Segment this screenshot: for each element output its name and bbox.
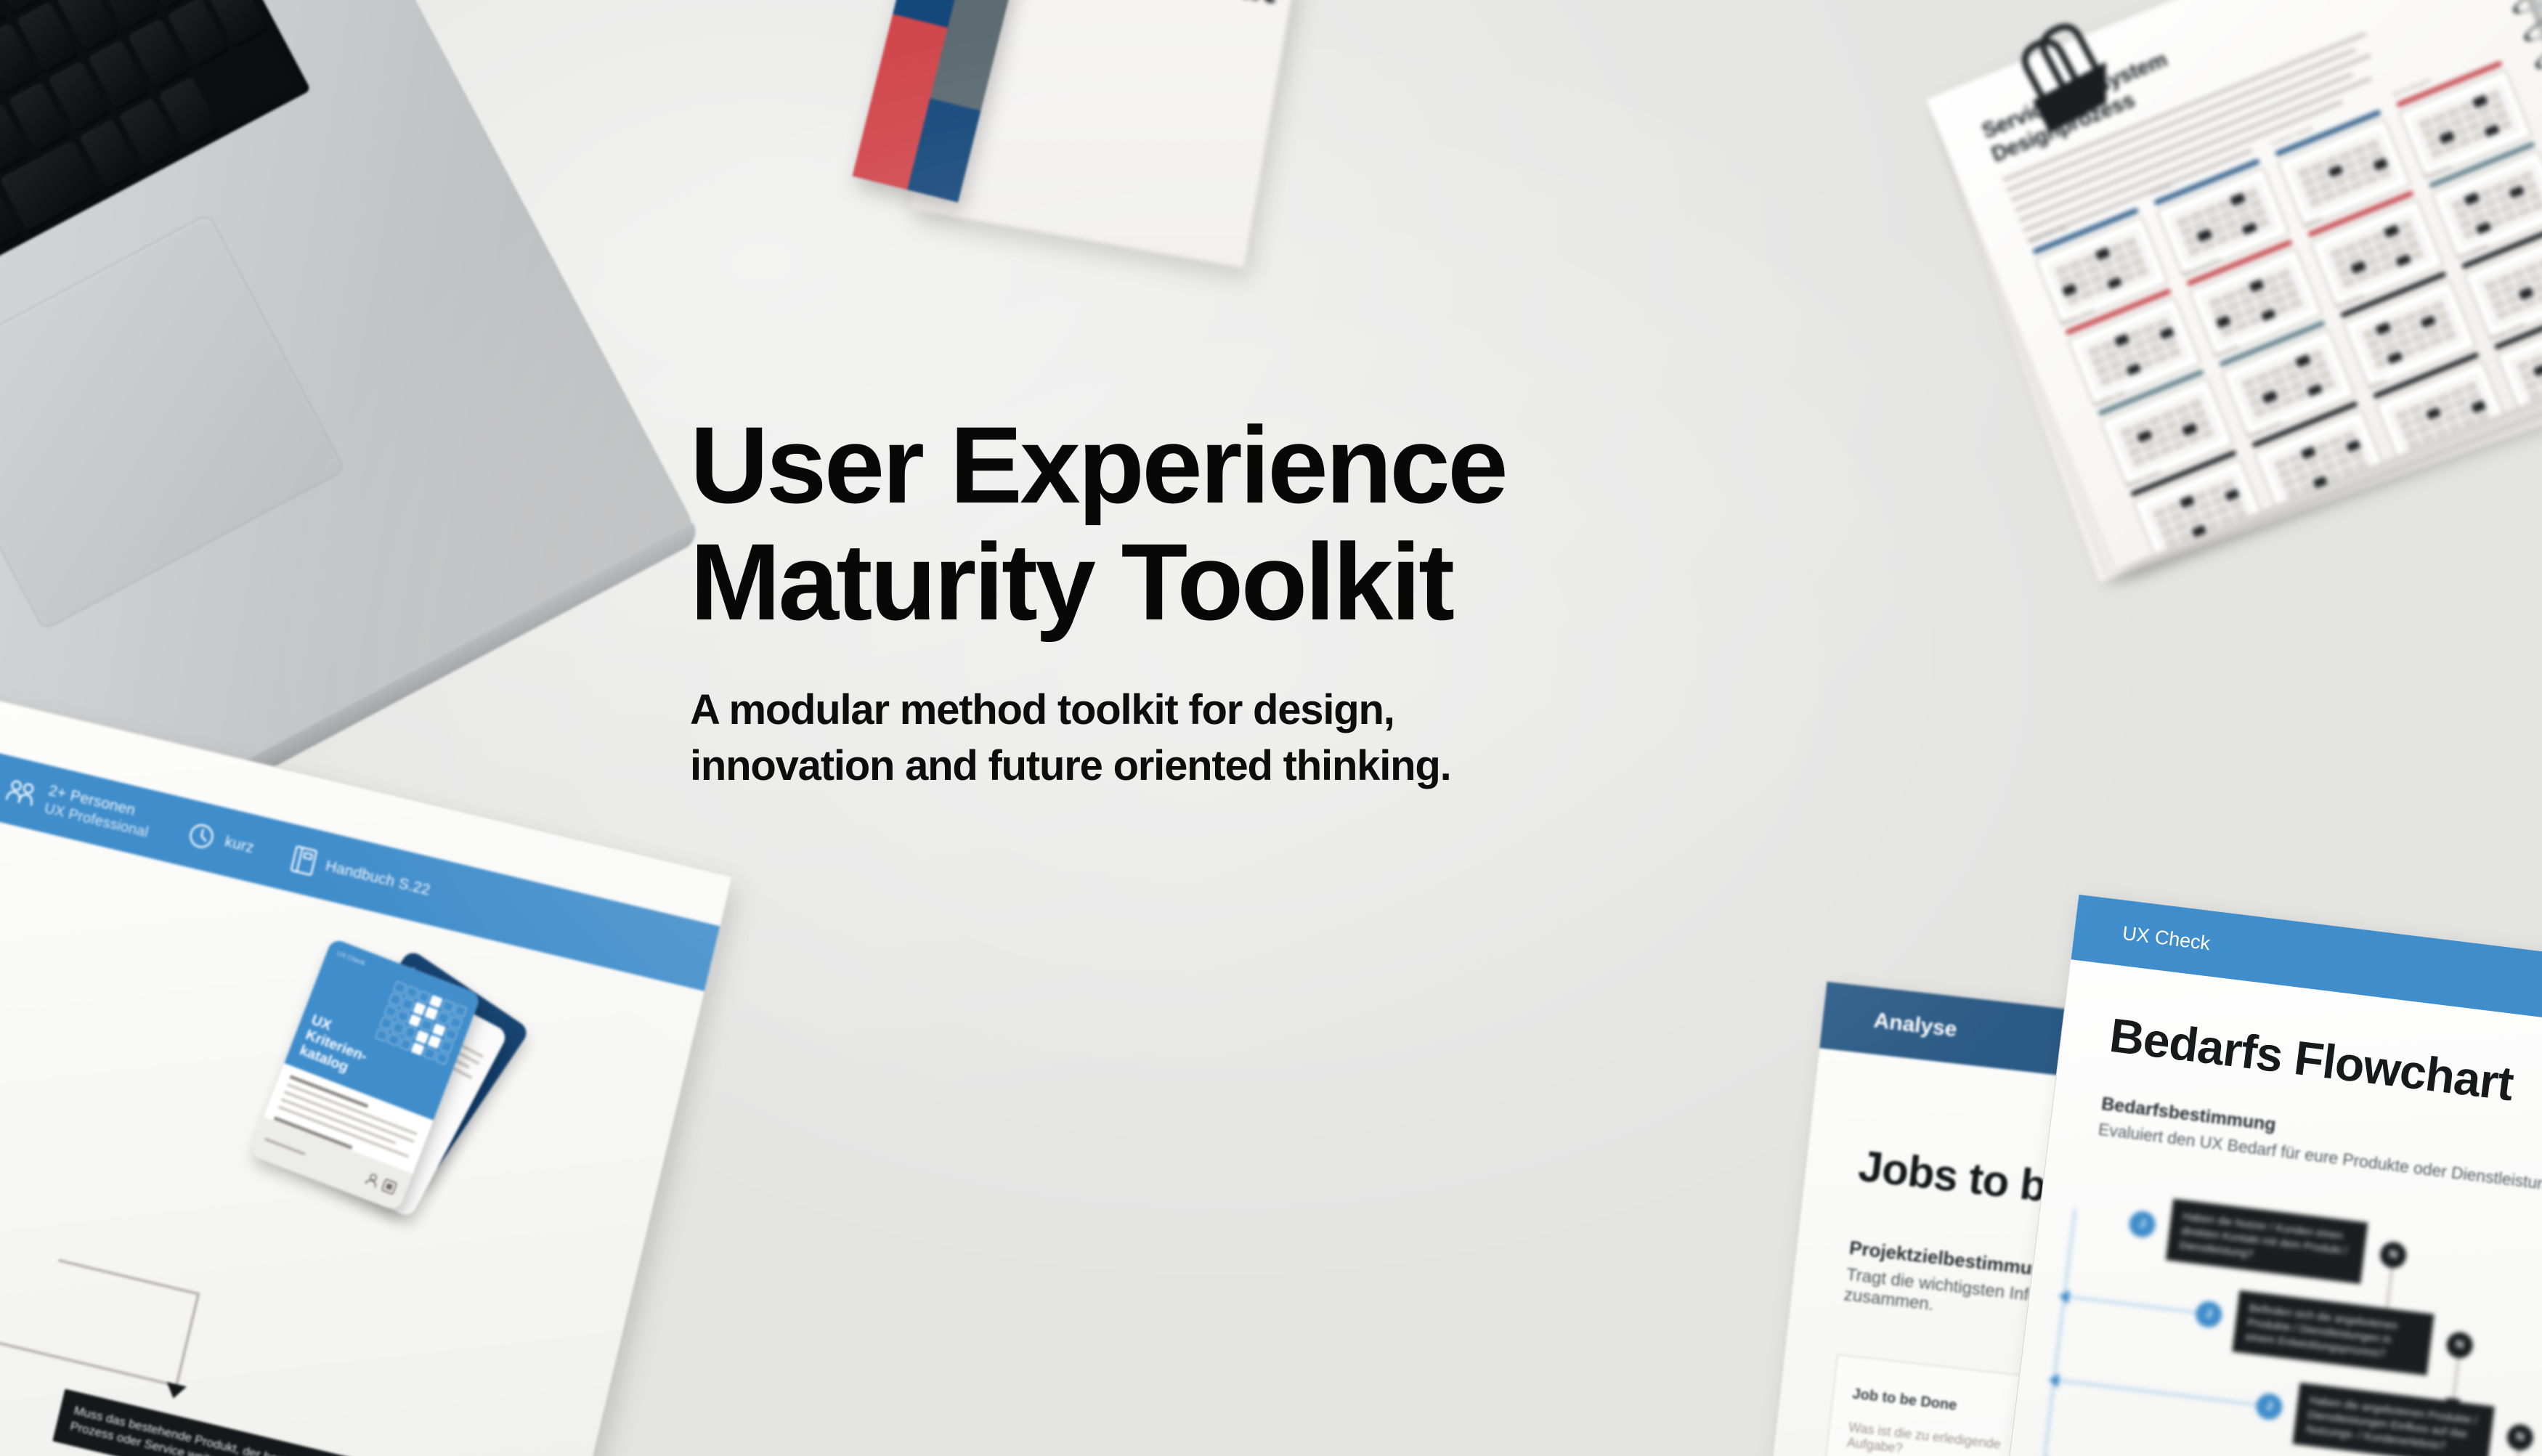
flow-arrow-1	[163, 1382, 187, 1401]
ux-flow-question-2: Befinden sich die angebotenen Produkte /…	[2232, 1290, 2434, 1376]
pixel-cell	[440, 1040, 454, 1054]
ux-flow-yes-3: J	[2254, 1392, 2283, 1421]
method-card-kind: UX Check	[336, 949, 366, 967]
pixel-cell	[375, 1028, 389, 1042]
ux-flow-spine	[2035, 1208, 2076, 1456]
ux-flow-no-2: N	[2445, 1330, 2474, 1359]
page-title-line-2: Maturity Toolkit	[690, 521, 1453, 643]
pixel-cell	[396, 1009, 410, 1023]
ux-flow-yes-2: J	[2194, 1300, 2223, 1329]
flow-line-2	[174, 1293, 200, 1387]
flow-box-2: Muss das bestehende Produkt, der bestehe…	[52, 1389, 368, 1456]
card-ux-header: UX Check	[2071, 895, 2542, 1028]
meta-handbook: Handbuch S.22	[288, 844, 433, 906]
pixel-cell	[449, 1016, 463, 1030]
pixel-cell	[411, 1042, 425, 1056]
people-icon	[4, 777, 40, 810]
notebook-method-card: UX Roadmap	[2464, 230, 2542, 341]
pixel-cell	[384, 1004, 398, 1018]
page-subtitle: A modular method toolkit for design, inn…	[690, 682, 1925, 794]
ux-flow-no-1: N	[2379, 1240, 2408, 1269]
ux-flow-return-arrow-2	[2047, 1372, 2059, 1388]
meta-duration-label: kurz	[223, 833, 256, 858]
page-title: User Experience Maturity Toolkit	[690, 407, 1925, 640]
pixel-cell	[442, 999, 455, 1013]
card-ux-flowchart: J Haben die Nutzer / Kunden einen direkt…	[2029, 1208, 2542, 1456]
meta-duration: kurz	[185, 820, 257, 863]
pixel-cell	[425, 1006, 439, 1020]
ux-flow-blue-line-2	[2058, 1379, 2265, 1407]
ux-flow-question-1: Haben die Nutzer / Kunden einen direkten…	[2166, 1199, 2368, 1285]
pixel-cell	[420, 1019, 434, 1033]
pixel-cell	[408, 1014, 422, 1028]
method-card-stack: Analyse UX Check UX Kriterien- katalog	[294, 959, 599, 1249]
pixel-cell	[379, 1017, 393, 1030]
ux-flow-yes-1: J	[2128, 1210, 2157, 1239]
pixel-cell	[415, 1030, 429, 1044]
card-ux-category: UX Check	[2121, 922, 2212, 955]
pixel-grid-icon	[375, 981, 467, 1065]
ux-flow-return-arrow-1	[2058, 1289, 2070, 1305]
pixel-cell	[389, 993, 402, 1006]
ux-flow-line-1	[2386, 1268, 2393, 1310]
scene-background: ...ence ...kit Bosch User Experience Mat…	[0, 0, 2542, 1456]
meta-people: 2+ Personen UX Professional	[3, 772, 154, 842]
meta-people-label: 2+ Personen UX Professional	[43, 781, 155, 842]
pixel-cell	[393, 981, 407, 995]
pixel-cell	[428, 1035, 442, 1049]
pixel-cell	[391, 1021, 405, 1035]
pixel-cell	[435, 1052, 449, 1065]
book-icon	[288, 844, 319, 878]
bosch-brochure: ...ence ...kit Bosch User Experience Mat…	[843, 0, 1371, 309]
pixel-cell	[405, 985, 419, 999]
pixel-cell	[444, 1028, 458, 1041]
ux-flow-line-2	[2452, 1358, 2459, 1400]
pixel-cell	[387, 1033, 401, 1046]
method-card-name: UX Kriterien- katalog	[297, 1012, 375, 1081]
pixel-cell	[399, 1038, 413, 1052]
flow-line-3	[58, 1259, 200, 1296]
pixel-cell	[400, 998, 414, 1012]
card-footer-icons	[363, 1170, 401, 1198]
ux-flow-line-3	[2513, 1450, 2520, 1456]
pixel-cell	[453, 1004, 467, 1018]
page-subtitle-line-2: innovation and future oriented thinking.	[690, 742, 1451, 789]
hero-text-block: User Experience Maturity Toolkit A modul…	[690, 407, 1925, 794]
pixel-cell	[413, 1002, 426, 1016]
flow-line-1	[0, 1334, 178, 1388]
pixel-cell	[432, 1023, 446, 1037]
brochure-cover-title: ...kit	[1188, 0, 1280, 11]
pixel-cell	[404, 1025, 418, 1039]
card-bedarfs-flowchart: UX Check Bedarfs Flowchart Bedarfsbestim…	[2000, 894, 2542, 1456]
pixel-cell	[436, 1012, 450, 1025]
spiral-notebook: Service Ökosystem Designprozess Stakehol…	[1925, 0, 2542, 611]
ux-flow-no-3: N	[2506, 1423, 2535, 1452]
page-subtitle-line-1: A modular method toolkit for design,	[690, 686, 1394, 733]
pixel-cell	[417, 991, 431, 1004]
pixel-cell	[423, 1046, 437, 1060]
notebook-method-card: Design System	[2132, 458, 2267, 569]
ux-flow-blue-line-1	[2069, 1296, 2206, 1314]
ux-flow-question-3: Haben die angebotenen Produkte / Dienstl…	[2292, 1383, 2494, 1456]
clock-icon	[185, 820, 219, 853]
brochure-red-block	[852, 14, 947, 190]
laptop-trackpad	[0, 213, 345, 630]
page-title-line-1: User Experience	[690, 404, 1506, 526]
pixel-cell	[429, 995, 443, 1009]
meta-handbook-label: Handbuch S.22	[323, 857, 431, 900]
